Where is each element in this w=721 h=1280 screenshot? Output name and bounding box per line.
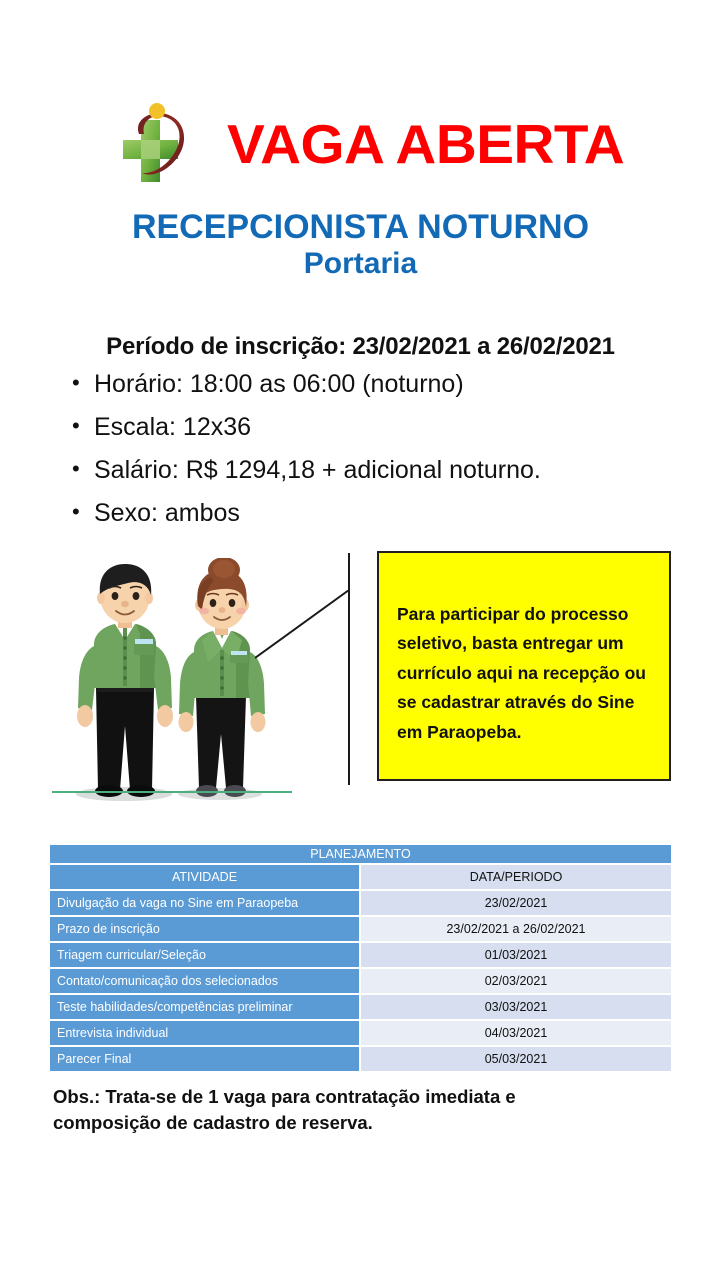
- list-item: Escala: 12x36: [72, 415, 672, 440]
- table-header-row: ATIVIDADE DATA/PERIODO: [50, 865, 671, 891]
- job-posting-poster: VAGA ABERTA RECEPCIONISTA NOTURNO Portar…: [0, 0, 721, 1280]
- date-cell: 04/03/2021: [361, 1021, 671, 1047]
- callout-connector-vertical-line: [348, 553, 350, 785]
- job-details-list: Horário: 18:00 as 06:00 (noturno) Escala…: [72, 372, 672, 544]
- how-to-apply-text: Para participar do processo seletivo, ba…: [397, 600, 653, 747]
- observation-line-1: Obs.: Trata-se de 1 vaga para contrataçã…: [53, 1086, 516, 1107]
- planning-schedule-table: PLANEJAMENTO ATIVIDADE DATA/PERIODO Divu…: [50, 845, 671, 1073]
- green-cross-health-logo-icon: [109, 96, 205, 192]
- job-department-title: Portaria: [0, 248, 721, 280]
- table-row: Prazo de inscrição 23/02/2021 a 26/02/20…: [50, 917, 671, 943]
- list-item: Sexo: ambos: [72, 501, 672, 526]
- how-to-apply-callout: Para participar do processo seletivo, ba…: [377, 551, 671, 781]
- table-banner-row: PLANEJAMENTO: [50, 845, 671, 865]
- table-row: Divulgação da vaga no Sine em Paraopeba …: [50, 891, 671, 917]
- list-item: Horário: 18:00 as 06:00 (noturno): [72, 372, 672, 397]
- column-header-date: DATA/PERIODO: [361, 865, 671, 891]
- poster-header: VAGA ABERTA: [0, 96, 721, 192]
- activity-cell: Triagem curricular/Seleção: [50, 943, 361, 969]
- date-cell: 23/02/2021: [361, 891, 671, 917]
- activity-cell: Entrevista individual: [50, 1021, 361, 1047]
- list-item: Salário: R$ 1294,18 + adicional noturno.: [72, 458, 672, 483]
- activity-cell: Parecer Final: [50, 1047, 361, 1073]
- observation-line-2: composição de cadastro de reserva.: [53, 1110, 669, 1136]
- page-title: VAGA ABERTA: [227, 117, 624, 172]
- table-row: Teste habilidades/competências prelimina…: [50, 995, 671, 1021]
- date-cell: 02/03/2021: [361, 969, 671, 995]
- column-header-activity: ATIVIDADE: [50, 865, 361, 891]
- date-cell: 05/03/2021: [361, 1047, 671, 1073]
- activity-cell: Contato/comunicação dos selecionados: [50, 969, 361, 995]
- observation-note: Obs.: Trata-se de 1 vaga para contrataçã…: [53, 1084, 669, 1137]
- job-role-title: RECEPCIONISTA NOTURNO: [0, 210, 721, 246]
- activity-cell: Divulgação da vaga no Sine em Paraopeba: [50, 891, 361, 917]
- date-cell: 03/03/2021: [361, 995, 671, 1021]
- table-row: Contato/comunicação dos selecionados 02/…: [50, 969, 671, 995]
- table-row: Entrevista individual 04/03/2021: [50, 1021, 671, 1047]
- activity-cell: Prazo de inscrição: [50, 917, 361, 943]
- table-banner-title: PLANEJAMENTO: [50, 845, 671, 865]
- activity-cell: Teste habilidades/competências prelimina…: [50, 995, 361, 1021]
- date-cell: 01/03/2021: [361, 943, 671, 969]
- table-row: Parecer Final 05/03/2021: [50, 1047, 671, 1073]
- application-period: Período de inscrição: 23/02/2021 a 26/02…: [0, 333, 721, 361]
- two-uniformed-employees-illustration: [52, 558, 292, 808]
- table-row: Triagem curricular/Seleção 01/03/2021: [50, 943, 671, 969]
- date-cell: 23/02/2021 a 26/02/2021: [361, 917, 671, 943]
